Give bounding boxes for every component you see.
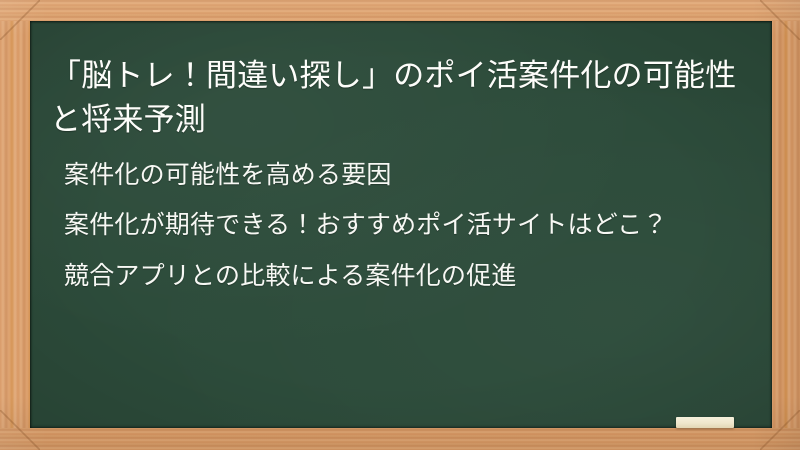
- frame-rail-bottom: [0, 428, 800, 450]
- chalk-stick: [676, 417, 734, 428]
- toc-item[interactable]: 案件化の可能性を高める要因: [58, 157, 748, 193]
- toc-item[interactable]: 競合アプリとの比較による案件化の促進: [58, 258, 748, 294]
- page-title-text: 「脳トレ！間違い探し」のポイ活案件化の可能性と将来予測: [50, 58, 736, 137]
- blackboard-screenshot: 「脳トレ！間違い探し」のポイ活案件化の可能性と将来予測 案件化の可能性を高める要…: [0, 0, 800, 450]
- blackboard-surface: 「脳トレ！間違い探し」のポイ活案件化の可能性と将来予測 案件化の可能性を高める要…: [30, 21, 772, 428]
- frame-rail-top: [0, 0, 800, 21]
- toc-item[interactable]: 案件化が期待できる！おすすめポイ活サイトはどこ？: [58, 207, 748, 243]
- page-title: 「脳トレ！間違い探し」のポイ活案件化の可能性と将来予測: [50, 54, 750, 142]
- table-of-contents: 案件化の可能性を高める要因 案件化が期待できる！おすすめポイ活サイトはどこ？ 競…: [58, 157, 748, 294]
